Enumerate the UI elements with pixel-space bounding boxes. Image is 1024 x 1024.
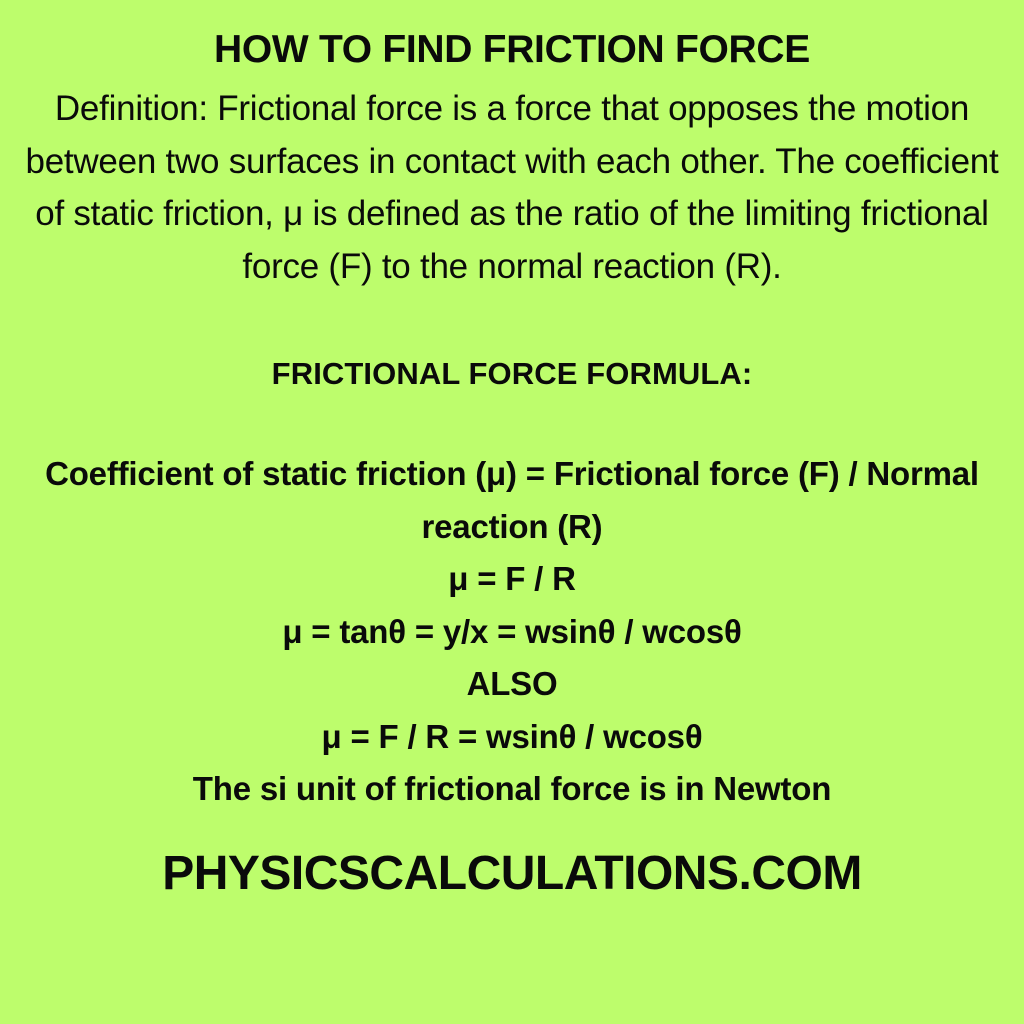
formula-line-coefficient-definition: Coefficient of static friction (μ) = Fri… [12, 448, 1012, 553]
formula-line-si-unit: The si unit of frictional force is in Ne… [12, 763, 1012, 816]
formula-line-mu-equals-wsin-over-wcos: μ = F / R = wsinθ / wcosθ [12, 711, 1012, 764]
friction-force-poster: HOW TO FIND FRICTION FORCE Definition: F… [0, 0, 1024, 1024]
site-watermark: PHYSICSCALCULATIONS.COM [12, 846, 1012, 901]
page-title: HOW TO FIND FRICTION FORCE [32, 30, 992, 69]
definition-paragraph: Definition: Frictional force is a force … [12, 83, 1012, 293]
formula-section-heading: FRICTIONAL FORCE FORMULA: [32, 356, 992, 392]
formula-line-mu-equals-f-over-r: μ = F / R [12, 553, 1012, 606]
formula-list: Coefficient of static friction (μ) = Fri… [12, 448, 1012, 816]
formula-line-also: ALSO [12, 658, 1012, 711]
formula-line-mu-equals-tan-theta: μ = tanθ = y/x = wsinθ / wcosθ [12, 606, 1012, 659]
